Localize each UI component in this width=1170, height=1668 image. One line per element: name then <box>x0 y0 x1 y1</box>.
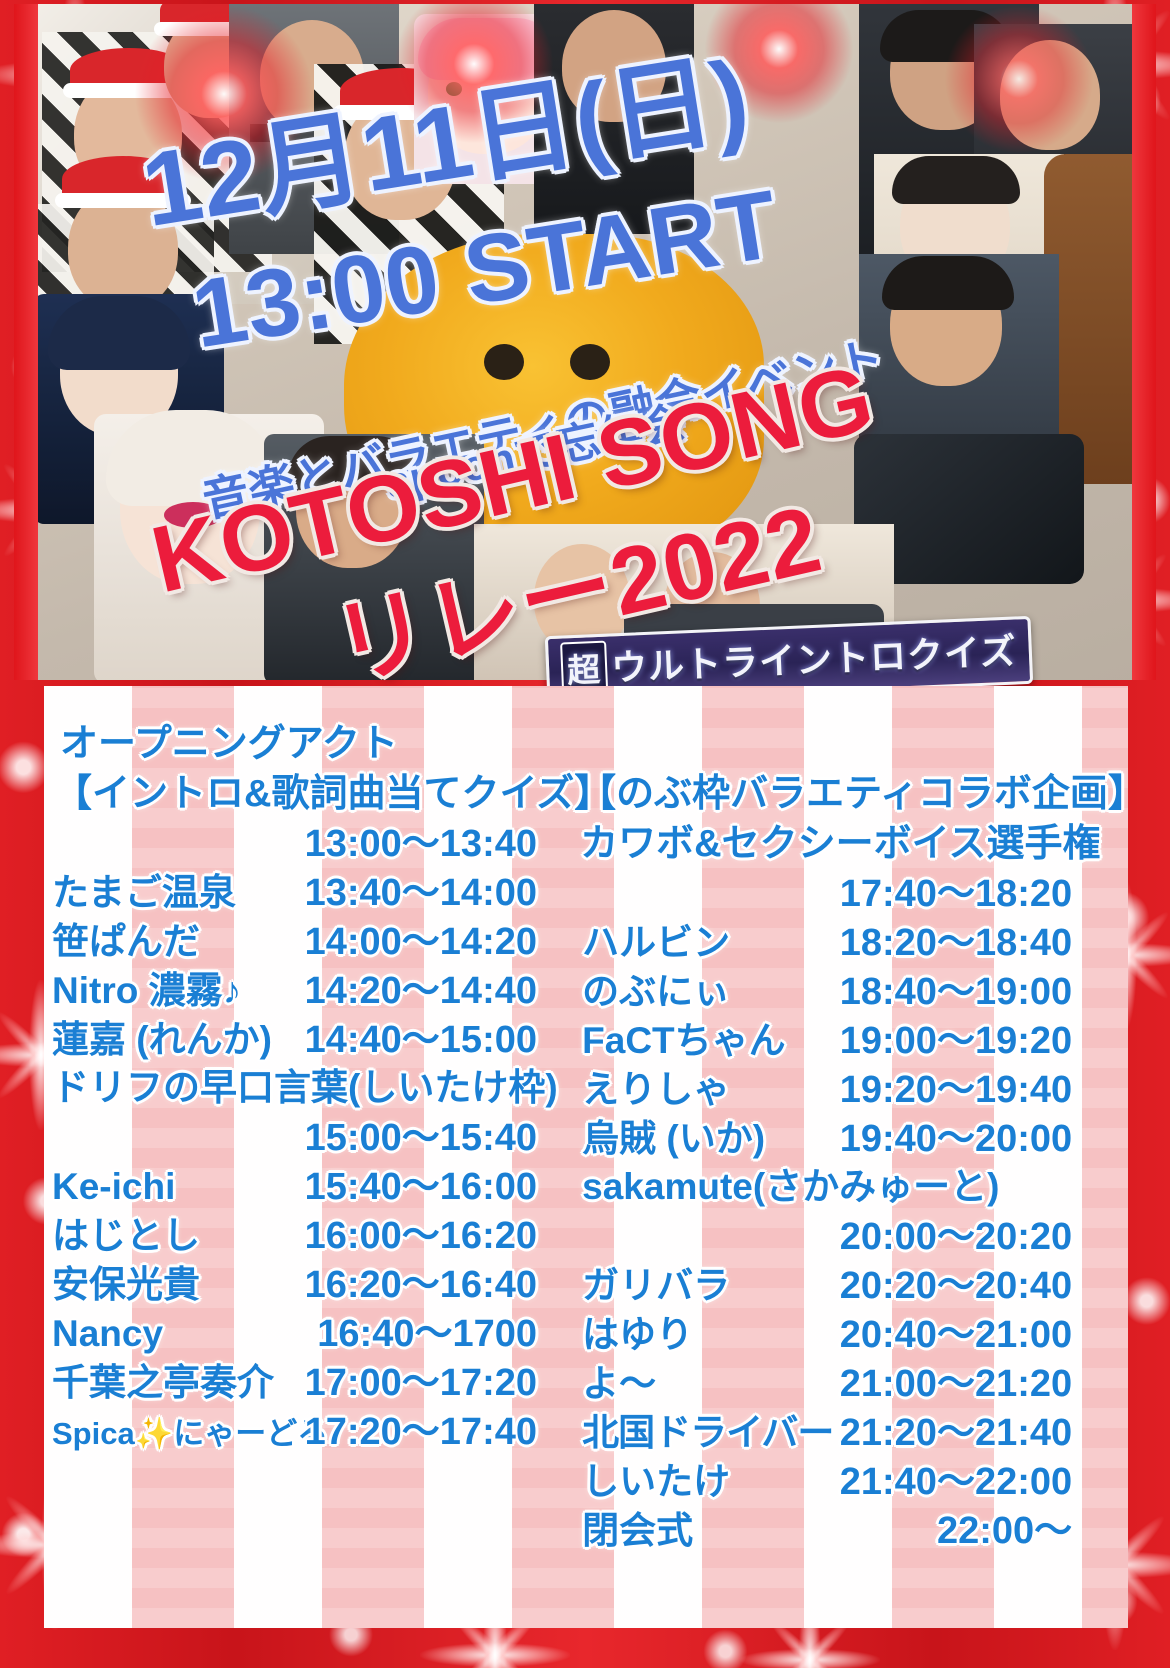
performer-name: たまご温泉 <box>52 862 287 916</box>
performer-name: はじとし <box>52 1205 287 1259</box>
performer-name: 笹ぱんだ <box>52 911 287 965</box>
performer-name: 北国ドライバー <box>582 1402 782 1456</box>
performer-name: 烏賊 (いか) <box>582 1108 782 1162</box>
schedule-row: のぶにぃ18:40〜19:00 <box>582 960 1128 1009</box>
event-poster: 12月11日(日) 13:00 START 音楽とバラエティの融合イベント sp… <box>0 0 1170 1668</box>
performance-time: 17:40〜18:20 <box>782 862 1072 917</box>
performer-name: ハルビン <box>582 912 782 966</box>
performance-time: 19:00〜19:20 <box>782 1009 1072 1064</box>
right-section-title-line-2: カワボ&セクシーボイス選手権 <box>580 812 1100 867</box>
performance-time: 16:00〜16:20 <box>287 1204 537 1259</box>
performer-name: 蓮嘉 (れんか) <box>52 1009 287 1063</box>
performance-time: 21:40〜22:00 <box>782 1450 1072 1505</box>
left-section-title-line-1: オープニングアクト <box>60 712 398 767</box>
schedule-row: 17:40〜18:20 <box>582 862 1128 911</box>
performer-name: のぶにぃ <box>582 961 782 1015</box>
performer-name: しいたけ <box>582 1451 782 1505</box>
performer-name: えりしゃ <box>582 1059 782 1113</box>
performer-name: Ke-ichi <box>52 1166 287 1208</box>
performance-time: 16:40〜1700 <box>287 1302 537 1357</box>
performance-time: 17:00〜17:20 <box>287 1351 537 1406</box>
quiz-banner-text: ウルトライントロクイズ <box>610 630 1017 688</box>
schedule-row: ガリバラ20:20〜20:40 <box>582 1254 1128 1303</box>
performer-name: Spica✨にゃーどる <box>52 1408 287 1453</box>
performance-time: 19:40〜20:00 <box>782 1107 1072 1162</box>
performer-name: ガリバラ <box>582 1255 782 1309</box>
performance-time: 17:20〜17:40 <box>287 1400 537 1455</box>
performance-time: 20:40〜21:00 <box>782 1303 1072 1358</box>
performance-time: 16:20〜16:40 <box>287 1253 537 1308</box>
performer-name: sakamute(さかみゅーと) <box>582 1156 999 1210</box>
performer-name: よ〜 <box>582 1353 782 1407</box>
performance-time: 15:40〜16:00 <box>287 1155 537 1210</box>
performer-name: 閉会式 <box>582 1500 782 1554</box>
performance-time: 21:00〜21:20 <box>782 1352 1072 1407</box>
schedule-panel: オープニングアクト 【イントロ&歌詞曲当てクイズ】 13:00〜13:40たまご… <box>44 686 1128 1628</box>
schedule-row: はゆり20:40〜21:00 <box>582 1303 1128 1352</box>
performer-name: 千葉之亭奏介 <box>52 1352 287 1406</box>
performance-time: 13:00〜13:40 <box>287 812 537 867</box>
performance-time: 19:20〜19:40 <box>782 1058 1072 1113</box>
performance-time: 14:40〜15:00 <box>287 1008 537 1063</box>
schedule-row: 20:00〜20:20 <box>582 1205 1128 1254</box>
left-section-title-line-2: 【イントロ&歌詞曲当てクイズ】 <box>54 762 612 817</box>
schedule-row: 烏賊 (いか)19:40〜20:00 <box>582 1107 1128 1156</box>
performer-name: 安保光貴 <box>52 1254 287 1308</box>
schedule-row: sakamute(さかみゅーと) <box>582 1156 1128 1205</box>
schedule-column-left: オープニングアクト 【イントロ&歌詞曲当てクイズ】 13:00〜13:40たまご… <box>44 686 576 1628</box>
performance-time: 18:40〜19:00 <box>782 960 1072 1015</box>
schedule-row: よ〜21:00〜21:20 <box>582 1352 1128 1401</box>
performance-time: 13:40〜14:00 <box>287 861 537 916</box>
right-section-title-line-1: 【のぶ枠バラエティコラボ企画】 <box>578 762 1128 817</box>
performance-time: 18:20〜18:40 <box>782 911 1072 966</box>
performer-name: FaCTちゃん <box>582 1010 782 1064</box>
performance-time: 22:00〜 <box>782 1499 1072 1554</box>
schedule-column-right: 【のぶ枠バラエティコラボ企画】 カワボ&セクシーボイス選手権 17:40〜18:… <box>576 686 1128 1628</box>
performance-time: 14:00〜14:20 <box>287 910 537 965</box>
performer-name: Nancy <box>52 1313 287 1355</box>
schedule-row: 北国ドライバー21:20〜21:40 <box>582 1401 1128 1450</box>
performance-time: 21:20〜21:40 <box>782 1401 1072 1456</box>
schedule-row: しいたけ21:40〜22:00 <box>582 1450 1128 1499</box>
performance-time: 20:20〜20:40 <box>782 1254 1072 1309</box>
performer-name: はゆり <box>582 1304 782 1358</box>
performer-name: ドリフの早口言葉(しいたけ枠) <box>52 1057 558 1111</box>
schedule-row: えりしゃ19:20〜19:40 <box>582 1058 1128 1107</box>
performance-time: 15:00〜15:40 <box>287 1106 537 1161</box>
performance-time: 14:20〜14:40 <box>287 959 537 1014</box>
schedule-row: ハルビン18:20〜18:40 <box>582 911 1128 960</box>
performance-time: 20:00〜20:20 <box>782 1205 1072 1260</box>
performer-name: Nitro 濃霧♪ <box>52 960 287 1014</box>
schedule-row: FaCTちゃん19:00〜19:20 <box>582 1009 1128 1058</box>
schedule-row: 閉会式22:00〜 <box>582 1499 1128 1548</box>
